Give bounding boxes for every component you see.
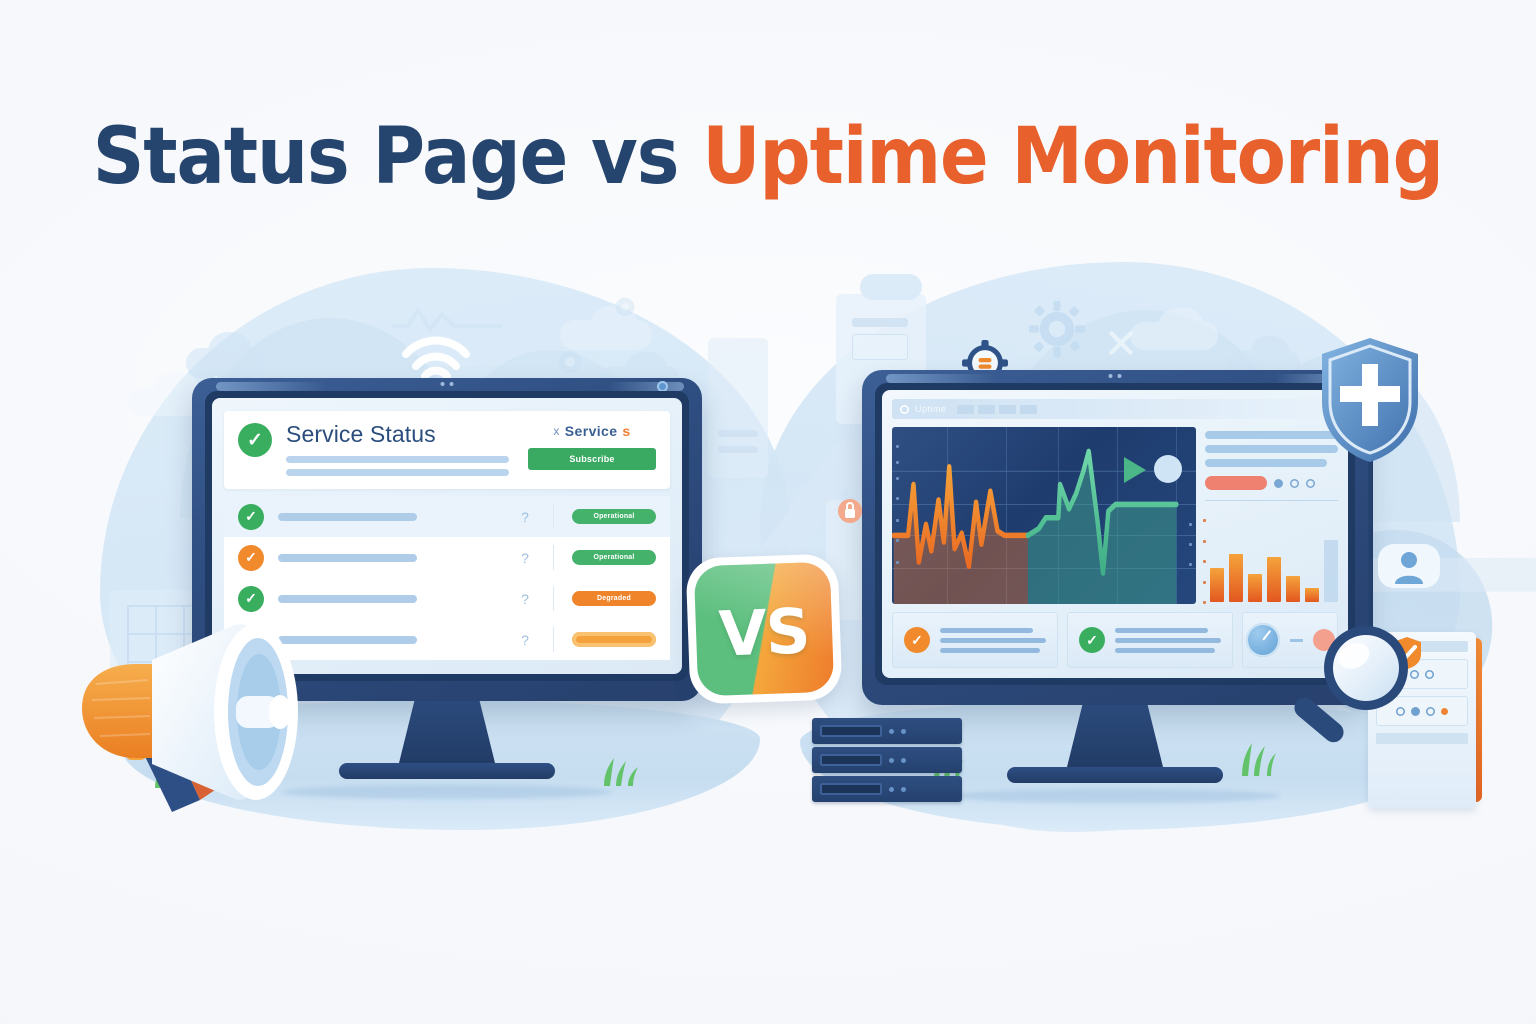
row-marker: ?	[517, 591, 533, 607]
status-badge: Degraded	[572, 591, 656, 606]
response-time-chart[interactable]	[892, 427, 1196, 604]
table-row[interactable]: ✓ ? Operational	[224, 537, 670, 578]
monitor-stand-neck	[1067, 705, 1163, 767]
subscribe-button[interactable]: Subscribe	[528, 448, 656, 470]
row-divider	[553, 545, 554, 570]
row-marker: ?	[517, 509, 533, 525]
brand-prefix: x	[553, 424, 559, 438]
status-badge: Operational	[572, 550, 656, 565]
monitor-shadow	[950, 789, 1280, 803]
monitor-stand-base	[1007, 767, 1223, 783]
ring-icon	[1426, 707, 1435, 716]
server-slot	[820, 725, 882, 737]
pill-decoration	[860, 274, 922, 300]
row-divider	[553, 627, 554, 652]
gauge-icon	[1246, 623, 1280, 657]
document-line	[852, 318, 908, 327]
row-divider	[553, 586, 554, 611]
axis-ticks	[1203, 519, 1206, 604]
bar	[1286, 576, 1300, 602]
document-line	[718, 446, 758, 453]
monitor-stand-base	[339, 763, 555, 779]
server-led	[901, 787, 906, 792]
alert-row	[1205, 476, 1338, 490]
server-slot	[820, 783, 882, 795]
monitor-inner-frame: Uptime	[875, 383, 1355, 685]
grass-tuft	[600, 758, 640, 786]
ring-icon	[1290, 479, 1299, 488]
megaphone-icon	[60, 612, 330, 824]
monitor-shadow	[282, 785, 612, 799]
server-unit	[812, 747, 962, 773]
server-unit	[812, 776, 962, 802]
placeholder-line	[286, 456, 509, 463]
topbar-nav-placeholders[interactable]	[957, 405, 1037, 414]
page-title: Service Status	[286, 423, 514, 446]
magnifier-icon	[1288, 618, 1420, 750]
server-led	[901, 729, 906, 734]
title-part-accent: Uptime Monitoring	[702, 112, 1443, 202]
brand-text: Service	[565, 423, 618, 439]
brand-suffix: s	[622, 423, 630, 439]
check-circle-icon: ✓	[238, 545, 264, 571]
server-slot	[820, 754, 882, 766]
row-divider	[553, 504, 554, 529]
check-circle-icon: ✓	[904, 627, 930, 653]
monitor-screen: Uptime	[882, 390, 1348, 678]
metric-cards: ✓ ✓	[892, 612, 1338, 668]
check-circle-icon: ✓	[1079, 627, 1105, 653]
service-name-placeholder	[278, 554, 417, 562]
title-block: Status Page vs Uptime Monitoring	[0, 118, 1536, 198]
page-title: Status Page vs Uptime Monitoring	[93, 118, 1443, 198]
check-circle-icon: ✓	[238, 586, 264, 612]
bar	[1248, 574, 1262, 602]
server-led	[889, 729, 894, 734]
row-marker: ?	[517, 632, 533, 648]
table-row[interactable]: ✓ ? Operational	[224, 496, 670, 537]
bar-ghost	[1324, 540, 1338, 602]
server-led	[901, 758, 906, 763]
title-part-primary: Status Page vs	[93, 112, 703, 202]
versus-shield-badge: VS	[688, 556, 840, 702]
ring-icon	[1306, 479, 1315, 488]
dashboard-main	[892, 427, 1338, 604]
server-stack-icon	[812, 718, 962, 810]
monitor-stand-neck	[399, 701, 495, 763]
server-led	[889, 787, 894, 792]
server-led	[889, 758, 894, 763]
divider	[1205, 500, 1338, 501]
alert-pill	[1205, 476, 1267, 490]
card-lines	[940, 628, 1046, 653]
sidebar-line	[1205, 459, 1327, 467]
ring-icon	[1425, 670, 1434, 679]
document-block	[852, 334, 908, 360]
service-name-placeholder	[278, 595, 417, 603]
placeholder-line	[286, 469, 509, 476]
dashboard-title: Uptime	[915, 404, 947, 414]
document-line	[718, 430, 758, 437]
healthy-card[interactable]: ✓	[1067, 612, 1233, 668]
check-circle-icon: ✓	[238, 504, 264, 530]
user-avatar-chip	[1376, 540, 1442, 592]
card-lines	[1115, 628, 1221, 653]
versus-label: VS	[686, 556, 843, 707]
illustration-canvas: ✓ Service Status x Service s	[0, 0, 1536, 1024]
status-page-header-card: ✓ Service Status x Service s	[224, 411, 670, 489]
uptime-bar-chart	[1205, 509, 1338, 604]
brand-logo: x Service s	[553, 423, 630, 439]
gear-decoration	[1028, 300, 1086, 358]
lock-icon	[838, 496, 862, 526]
check-circle-icon: ✓	[238, 423, 272, 457]
marker-ball-icon	[1154, 455, 1182, 483]
uptime-dashboard-app: Uptime	[882, 390, 1348, 678]
bar	[1305, 588, 1319, 602]
bezel-highlight	[216, 382, 326, 391]
webcam-dots	[1109, 374, 1122, 378]
webcam-dots	[441, 382, 454, 386]
service-name-placeholder	[278, 513, 417, 521]
bezel-highlight	[886, 374, 996, 383]
bar	[1267, 557, 1281, 602]
row-marker: ?	[517, 550, 533, 566]
status-badge	[572, 632, 656, 647]
gear-decoration	[610, 292, 640, 322]
gear-decoration	[552, 344, 588, 380]
dashboard-topbar: Uptime	[892, 399, 1338, 419]
play-triangle-icon[interactable]	[1124, 457, 1146, 483]
server-unit	[812, 718, 962, 744]
document-decoration	[708, 338, 768, 478]
status-badge: Operational	[572, 509, 656, 524]
bar	[1229, 554, 1243, 602]
dot-icon	[1274, 479, 1283, 488]
shield-cross-icon	[1318, 336, 1422, 464]
grass-tuft	[1238, 742, 1278, 776]
incident-card[interactable]: ✓	[892, 612, 1058, 668]
bar	[1210, 568, 1224, 602]
chart-svg	[892, 427, 1196, 604]
status-ring-icon	[900, 405, 909, 414]
alert-dot-icon	[1441, 708, 1448, 715]
bezel-highlight	[608, 382, 684, 391]
